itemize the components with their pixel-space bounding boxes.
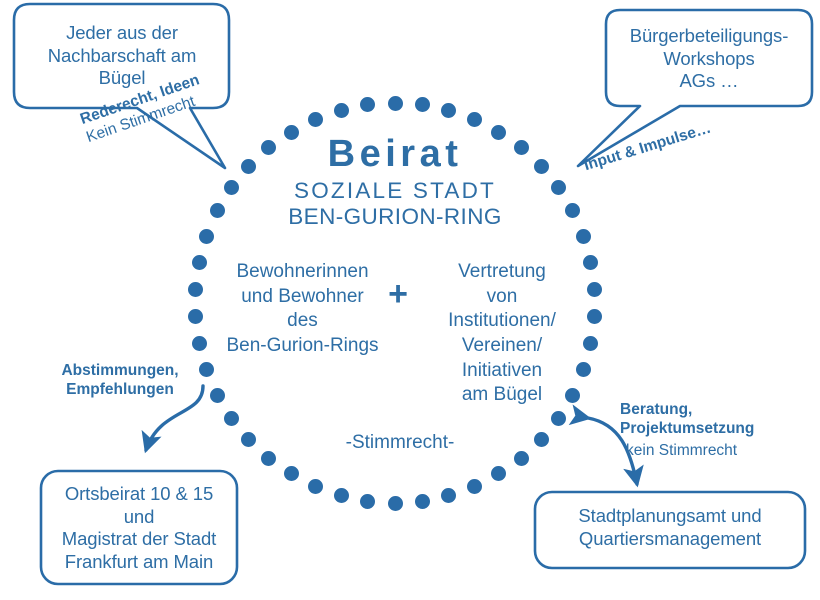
- ring-dot: [534, 432, 549, 447]
- ring-dot: [551, 411, 566, 426]
- box-bottom-right-text: Stadtplanungsamt und Quartiersmanagement: [545, 505, 795, 550]
- page-title: Beirat: [245, 131, 545, 177]
- ring-dot: [308, 112, 323, 127]
- ring-dot: [261, 451, 276, 466]
- ring-dot: [467, 479, 482, 494]
- ring-dot: [224, 411, 239, 426]
- ring-dot: [491, 466, 506, 481]
- label-kein-stimmrecht-right: kein Stimmrecht: [626, 442, 801, 461]
- ring-dot: [514, 451, 529, 466]
- ring-dot: [360, 97, 375, 112]
- ring-dot: [199, 229, 214, 244]
- ring-dot: [224, 180, 239, 195]
- ring-dot: [210, 203, 225, 218]
- ring-dot: [583, 336, 598, 351]
- plus-symbol: +: [386, 277, 410, 311]
- page-subtitle-1: SOZIALE STADT: [245, 177, 545, 204]
- ring-dot: [441, 488, 456, 503]
- ring-dot: [388, 96, 403, 111]
- ring-dot: [587, 282, 602, 297]
- ring-dot: [576, 229, 591, 244]
- center-right-column: Vertretung von Institutionen/ Vereinen/ …: [422, 260, 582, 408]
- ring-dot: [415, 494, 430, 509]
- ring-dot: [587, 309, 602, 324]
- ring-dot: [188, 309, 203, 324]
- ring-dot: [284, 466, 299, 481]
- callout-top-right-text: Bürgerbeteiligungs- Workshops AGs …: [612, 25, 806, 93]
- ring-dot: [199, 362, 214, 377]
- ring-dot: [467, 112, 482, 127]
- ring-dot: [192, 255, 207, 270]
- ring-dot: [441, 103, 456, 118]
- center-footer-stimmrecht: -Stimmrecht-: [310, 431, 490, 454]
- ring-dot: [334, 488, 349, 503]
- label-input-impulse: Input & Impulse…: [582, 119, 713, 175]
- ring-dot: [308, 479, 323, 494]
- label-rederecht-group: Rederecht, Ideen Kein Stimmrecht: [78, 112, 203, 149]
- label-beratung-projektumsetzung: Beratung, Projektumsetzung: [620, 401, 795, 439]
- ring-dot: [583, 255, 598, 270]
- ring-dot: [551, 180, 566, 195]
- page-subtitle-2: BEN-GURION-RING: [245, 203, 545, 230]
- ring-dot: [210, 388, 225, 403]
- ring-dot: [188, 282, 203, 297]
- ring-dot: [360, 494, 375, 509]
- ring-dot: [192, 336, 207, 351]
- label-abstimmungen-empfehlungen: Abstimmungen, Empfehlungen: [45, 362, 195, 400]
- ring-dot: [415, 97, 430, 112]
- label-input-impulse-group: Input & Impulse…: [582, 158, 714, 176]
- ring-dot: [565, 203, 580, 218]
- ring-dot: [241, 432, 256, 447]
- ring-dot: [388, 496, 403, 511]
- box-bottom-left-text: Ortsbeirat 10 & 15 und Magistrat der Sta…: [44, 483, 234, 573]
- diagram-canvas: Jeder aus der Nachbarschaft am Bügel Red…: [0, 0, 820, 600]
- center-left-column: Bewohnerinnen und Bewohner des Ben-Gurio…: [215, 260, 390, 359]
- ring-dot: [334, 103, 349, 118]
